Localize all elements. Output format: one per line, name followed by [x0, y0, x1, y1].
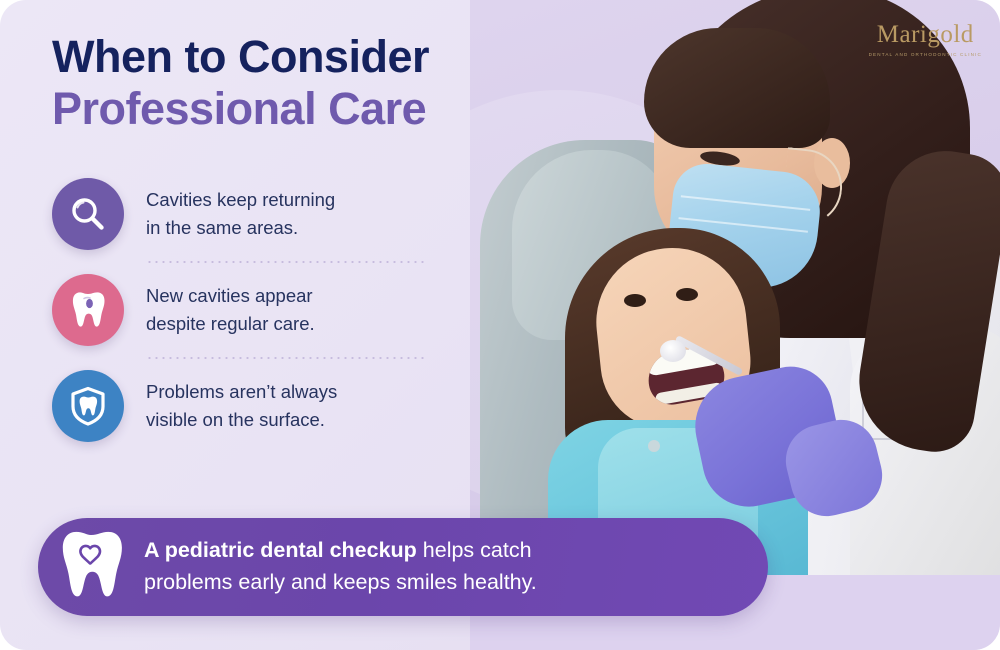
bib-clip: [648, 440, 660, 452]
list-item-line-1: Problems aren’t always: [146, 378, 337, 406]
list-item-line-1: Cavities keep returning: [146, 186, 335, 214]
tooth-cavity-icon: [67, 289, 109, 331]
dental-mirror-head: [660, 340, 686, 362]
child-eye-left: [624, 294, 646, 307]
badge-shield-tooth: [52, 370, 124, 442]
tooth-heart-icon: [52, 526, 130, 608]
banner-rest-line-1: helps catch: [417, 538, 532, 562]
clinic-photo: [470, 0, 1000, 578]
list-item-text: Problems aren’t always visible on the su…: [146, 378, 337, 434]
list-item-text: New cavities appear despite regular care…: [146, 282, 315, 338]
list-item: Cavities keep returning in the same area…: [52, 167, 452, 261]
highlight-banner: A pediatric dental checkup helps catch p…: [38, 518, 768, 616]
page-title: When to Consider Professional Care: [52, 32, 429, 135]
banner-text: A pediatric dental checkup helps catch p…: [144, 535, 561, 599]
list-item-line-2: in the same areas.: [146, 214, 335, 242]
title-line-1: When to Consider: [52, 32, 429, 82]
brand-logo: Marigold DENTAL AND ORTHODONTIC CLINIC: [869, 22, 982, 57]
list-item-line-1: New cavities appear: [146, 282, 315, 310]
banner-line-1: A pediatric dental checkup helps catch: [144, 535, 537, 567]
child-eye-right: [676, 288, 698, 301]
list-item-line-2: visible on the surface.: [146, 406, 337, 434]
infographic-card: Marigold DENTAL AND ORTHODONTIC CLINIC W…: [0, 0, 1000, 650]
badge-tooth-cavity: [52, 274, 124, 346]
dentist-hair-front: [644, 28, 830, 148]
reasons-list: Cavities keep returning in the same area…: [52, 167, 452, 453]
banner-line-2: problems early and keeps smiles healthy.: [144, 567, 537, 599]
list-item-line-2: despite regular care.: [146, 310, 315, 338]
brand-name: Marigold: [869, 22, 982, 47]
brand-tagline: DENTAL AND ORTHODONTIC CLINIC: [869, 52, 982, 57]
banner-icon-wrap: [38, 526, 144, 608]
list-item: New cavities appear despite regular care…: [52, 263, 452, 357]
banner-bold-text: A pediatric dental checkup: [144, 538, 417, 562]
title-line-2: Professional Care: [52, 84, 429, 134]
magnifier-icon: [68, 194, 108, 234]
list-item-text: Cavities keep returning in the same area…: [146, 186, 335, 242]
badge-magnifier: [52, 178, 124, 250]
shield-tooth-icon: [67, 385, 109, 427]
list-item: Problems aren’t always visible on the su…: [52, 359, 452, 453]
